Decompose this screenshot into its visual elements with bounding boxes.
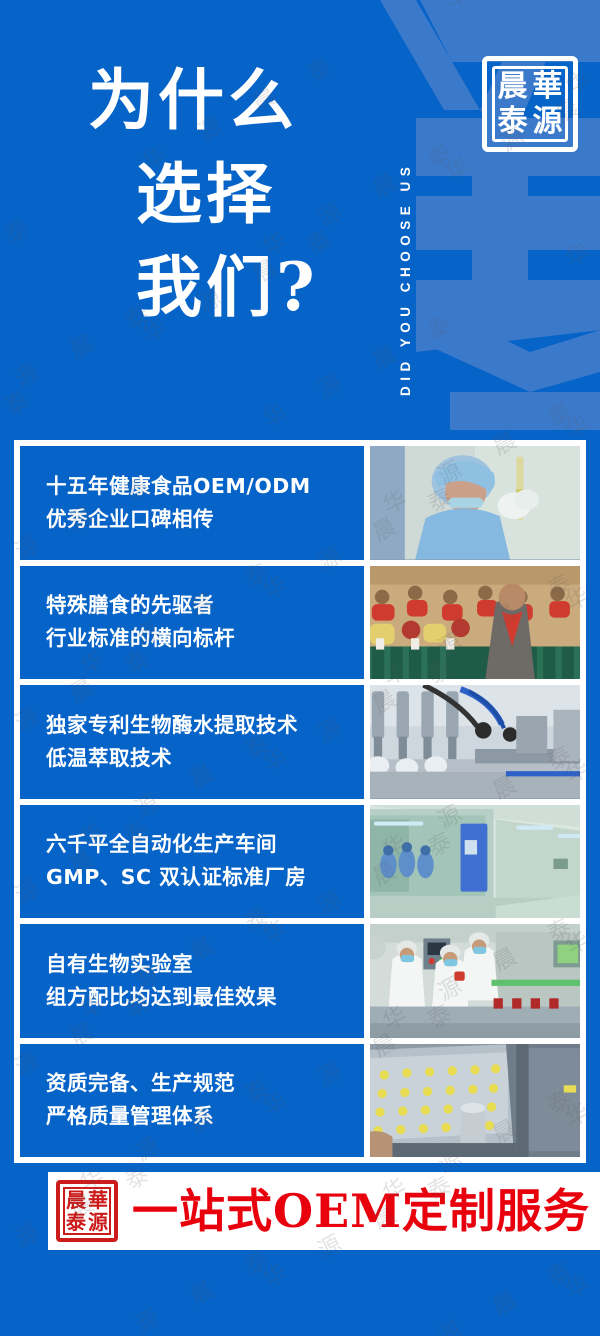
page-title: 为什么 选择 我们? [88, 54, 388, 335]
headline-line-1: 为什么 [88, 54, 388, 148]
feature-card-text: 六千平全自动化生产车间 GMP、SC 双认证标准厂房 [20, 805, 364, 919]
headline-line-3: 我们? [88, 241, 388, 335]
feature-line-1: 独家专利生物酶水提取技术 [46, 709, 364, 742]
footer-slogan: 一站式OEM定制服务 [132, 1188, 590, 1234]
seal-char-4: 源 [88, 1212, 108, 1232]
feature-card-panel: 十五年健康食品OEM/ODM 优秀企业口碑相传 [14, 440, 586, 1163]
seal-char-1: 晨 [498, 72, 528, 102]
brand-seal-logo-white: 晨 華 泰 源 [482, 56, 578, 152]
seal-char-2: 華 [88, 1190, 108, 1210]
seal-char-4: 源 [533, 107, 563, 137]
photo-blister-packing-capsules [370, 1044, 580, 1158]
headline-line-2: 选择 [88, 148, 388, 242]
photo-cleanroom-corridor [370, 805, 580, 919]
feature-line-2: 行业标准的横向标杆 [46, 622, 364, 655]
feature-line-1: 六千平全自动化生产车间 [46, 828, 364, 861]
seal-char-1: 晨 [66, 1190, 86, 1210]
feature-line-2: 组方配比均达到最佳效果 [46, 981, 364, 1014]
feature-line-1: 十五年健康食品OEM/ODM [46, 470, 364, 503]
feature-line-2: 严格质量管理体系 [46, 1100, 364, 1133]
feature-line-1: 自有生物实验室 [46, 948, 364, 981]
footer-left-blue-strip [0, 1172, 48, 1250]
photo-workers-white-coats-line [370, 924, 580, 1038]
feature-card: 十五年健康食品OEM/ODM 优秀企业口碑相传 [20, 446, 580, 560]
feature-line-1: 资质完备、生产规范 [46, 1067, 364, 1100]
photo-conference-audience [370, 566, 580, 680]
photo-filling-machinery-line [370, 685, 580, 799]
feature-card-text: 独家专利生物酶水提取技术 低温萃取技术 [20, 685, 364, 799]
photo-lab-technician-inspecting-sample [370, 446, 580, 560]
feature-line-2: GMP、SC 双认证标准厂房 [46, 861, 364, 894]
feature-line-2: 低温萃取技术 [46, 742, 364, 775]
feature-card-text: 特殊膳食的先驱者 行业标准的横向标杆 [20, 566, 364, 680]
feature-card: 资质完备、生产规范 严格质量管理体系 [20, 1044, 580, 1158]
vertical-english-tagline: DID YOU CHOOSE US [398, 28, 424, 396]
feature-card: 独家专利生物酶水提取技术 低温萃取技术 [20, 685, 580, 799]
feature-line-1: 特殊膳食的先驱者 [46, 589, 364, 622]
feature-line-2: 优秀企业口碑相传 [46, 503, 364, 536]
feature-card: 六千平全自动化生产车间 GMP、SC 双认证标准厂房 [20, 805, 580, 919]
seal-char-2: 華 [533, 72, 563, 102]
poster-root: 为什么 选择 我们? DID YOU CHOOSE US 晨 華 泰 源 十五年… [0, 0, 600, 1336]
feature-card-text: 十五年健康食品OEM/ODM 优秀企业口碑相传 [20, 446, 364, 560]
seal-char-3: 泰 [498, 107, 528, 137]
footer-banner: 晨 華 泰 源 一站式OEM定制服务 [48, 1172, 600, 1250]
feature-card: 自有生物实验室 组方配比均达到最佳效果 [20, 924, 580, 1038]
feature-card: 特殊膳食的先驱者 行业标准的横向标杆 [20, 566, 580, 680]
seal-char-3: 泰 [66, 1212, 86, 1232]
feature-card-text: 自有生物实验室 组方配比均达到最佳效果 [20, 924, 364, 1038]
feature-card-text: 资质完备、生产规范 严格质量管理体系 [20, 1044, 364, 1158]
brand-seal-logo-red: 晨 華 泰 源 [56, 1180, 118, 1242]
poster-header: 为什么 选择 我们? DID YOU CHOOSE US 晨 華 泰 源 [0, 0, 600, 430]
